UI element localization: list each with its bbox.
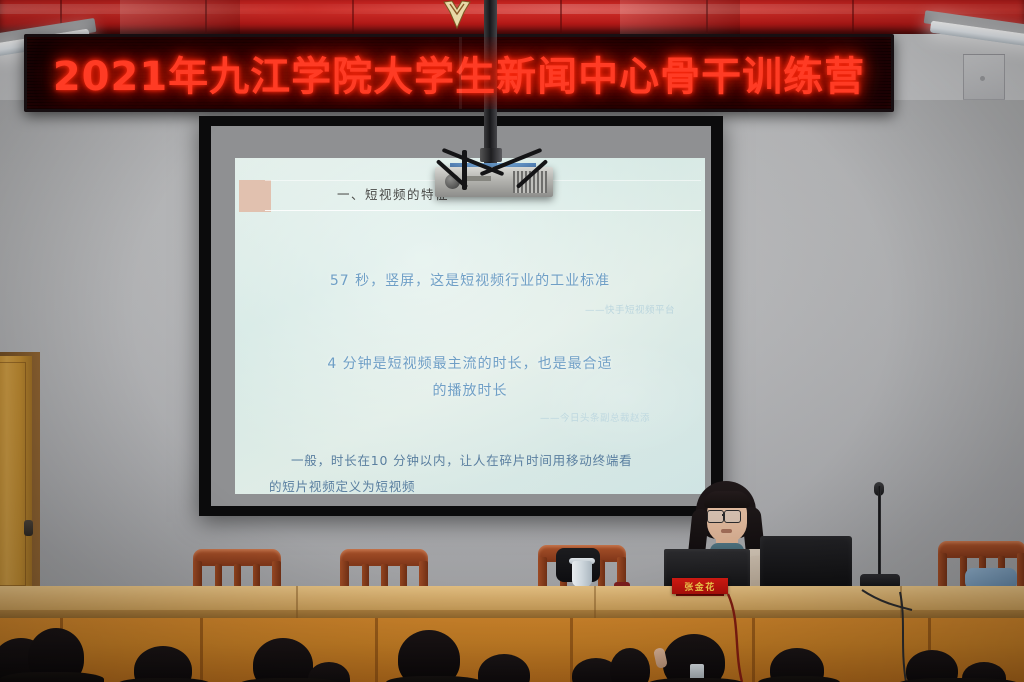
slide-rule-under-title	[265, 210, 701, 211]
lecture-hall-photo: 2021年九江学院大学生新闻中心骨干训练营 一、短视频的特征 57 秒，竖屏，这…	[0, 0, 1024, 682]
eyeglasses-bridge	[722, 514, 725, 516]
eyeglasses-left-lens	[707, 510, 724, 523]
slide-title: 一、短视频的特征	[337, 184, 449, 203]
presenter-bangs	[704, 491, 750, 508]
banner-emblem-icon	[440, 0, 474, 30]
vent-dot	[980, 76, 985, 81]
slide-citation-1: ——快手短视频平台	[235, 302, 675, 316]
audience-shoulder	[898, 678, 1018, 682]
slide-accent-square	[239, 180, 271, 212]
eyeglasses-right-lens	[724, 510, 741, 523]
projector-hotspot	[535, 338, 705, 458]
audience-shoulder	[240, 678, 340, 682]
wall-vent-panel	[963, 54, 1005, 100]
audience-shoulder	[386, 676, 482, 682]
presentation-slide: 一、短视频的特征 57 秒，竖屏，这是短视频行业的工业标准 ——快手短视频平台 …	[235, 158, 705, 494]
projector-pole-collar	[480, 148, 502, 162]
slide-paragraph-line2: 的短片视频定义为短视频	[269, 476, 679, 494]
audience-shoulder	[648, 678, 744, 682]
led-banner: 2021年九江学院大学生新闻中心骨干训练营	[24, 34, 894, 112]
audience-shoulder	[0, 672, 104, 682]
presenter-mouth	[721, 529, 732, 533]
red-ceiling-drape	[0, 0, 1024, 34]
audience-head	[398, 630, 460, 682]
door-panel	[0, 362, 26, 586]
wooden-door[interactable]	[0, 356, 32, 594]
slide-quote-1: 57 秒，竖屏，这是短视频行业的工业标准	[235, 270, 705, 290]
door-handle[interactable]	[24, 520, 33, 536]
microphone-gooseneck	[878, 486, 881, 580]
projector-label	[465, 176, 491, 181]
audience-shoulder	[758, 676, 840, 682]
audience-shoulder	[118, 678, 210, 682]
